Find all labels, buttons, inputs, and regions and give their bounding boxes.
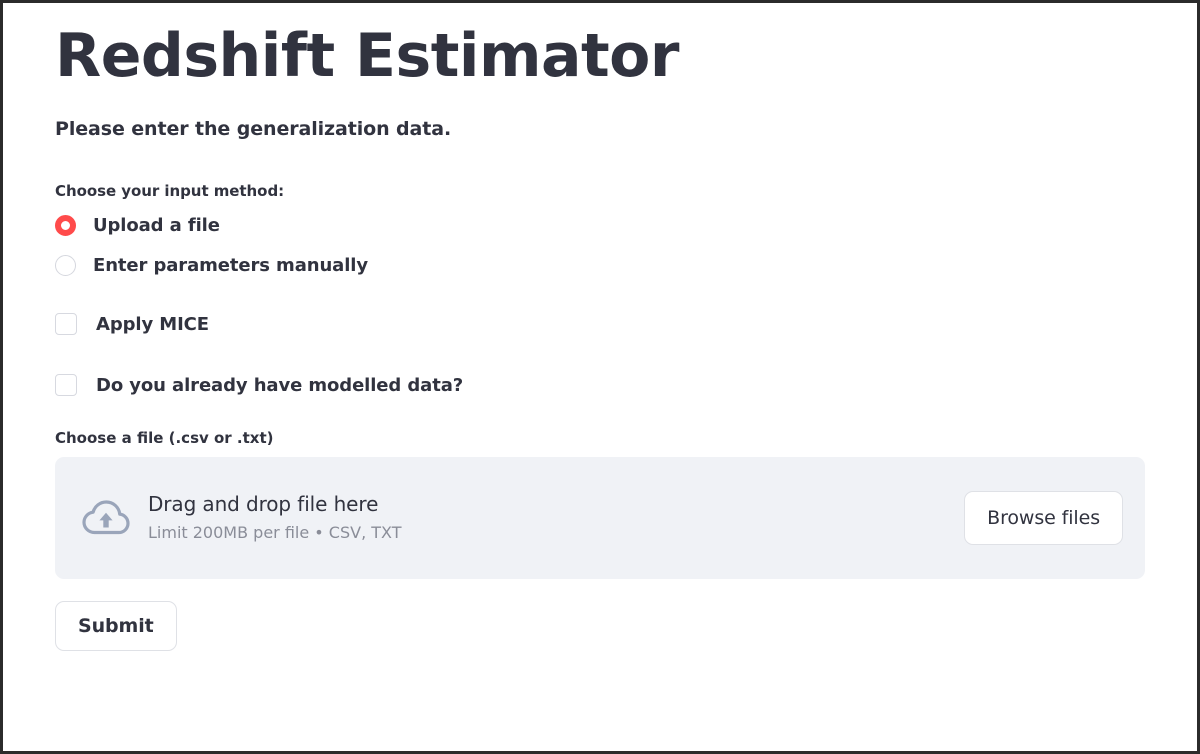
radio-mark-unselected[interactable] — [55, 255, 76, 276]
intro-text: Please enter the generalization data. — [55, 118, 1145, 140]
checkbox-have-modelled-data[interactable]: Do you already have modelled data? — [55, 368, 1145, 402]
app-window: Redshift Estimator Please enter the gene… — [0, 0, 1200, 754]
browse-files-button[interactable]: Browse files — [964, 491, 1123, 545]
cloud-upload-icon — [79, 491, 133, 545]
submit-button[interactable]: Submit — [55, 601, 177, 651]
checkbox-mark[interactable] — [55, 313, 77, 335]
radio-label: Upload a file — [93, 215, 220, 236]
dropzone-drag-text: Drag and drop file here — [148, 491, 964, 518]
dropzone-limit-text: Limit 200MB per file • CSV, TXT — [148, 521, 964, 544]
input-method-label: Choose your input method: — [55, 182, 1145, 200]
radio-option-enter-parameters-manually[interactable]: Enter parameters manually — [55, 249, 1145, 281]
input-method-radio-group[interactable]: Upload a file Enter parameters manually — [55, 209, 1145, 281]
checkbox-mark[interactable] — [55, 374, 77, 396]
dropzone-texts: Drag and drop file here Limit 200MB per … — [148, 491, 964, 544]
app-body: Redshift Estimator Please enter the gene… — [3, 3, 1197, 651]
checkbox-apply-mice[interactable]: Apply MICE — [55, 307, 1145, 341]
radio-label: Enter parameters manually — [93, 255, 368, 276]
radio-mark-selected[interactable] — [55, 215, 76, 236]
page-title: Redshift Estimator — [55, 25, 1145, 88]
checkbox-label: Do you already have modelled data? — [96, 375, 463, 396]
radio-option-upload-a-file[interactable]: Upload a file — [55, 209, 1145, 241]
file-uploader-label: Choose a file (.csv or .txt) — [55, 429, 1145, 447]
checkbox-label: Apply MICE — [96, 314, 209, 335]
file-dropzone[interactable]: Drag and drop file here Limit 200MB per … — [55, 457, 1145, 579]
